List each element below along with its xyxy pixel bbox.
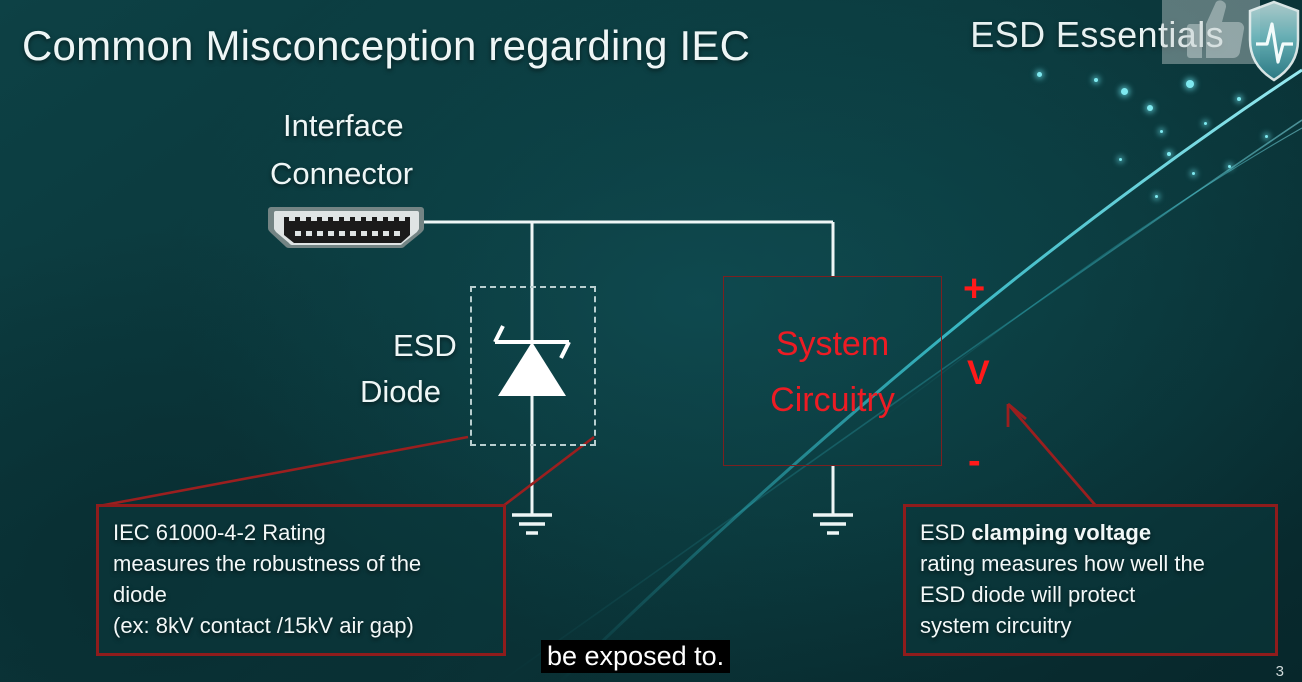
callout-left-line1: IEC 61000-4-2 Rating [113, 517, 489, 548]
system-circuitry-box [723, 276, 942, 466]
callout-right-line1: ESD clamping voltage [920, 517, 1261, 548]
callout-right-line3: ESD diode will protect [920, 579, 1261, 610]
system-circuitry-label-line1: System [723, 325, 942, 364]
slide-canvas: Common Misconception regarding IEC ESD E… [0, 0, 1302, 682]
callout-right-line1-bold: clamping voltage [971, 520, 1151, 545]
callout-left: IEC 61000-4-2 Rating measures the robust… [96, 504, 506, 656]
hdmi-connector-icon [268, 203, 426, 251]
esd-diode-label-line2: Diode [360, 374, 441, 410]
callout-right: ESD clamping voltage rating measures how… [903, 504, 1278, 656]
callout-right-line1-normal: ESD [920, 520, 971, 545]
callout-left-line2: measures the robustness of the [113, 548, 489, 579]
callout-left-line3: diode [113, 579, 489, 610]
esd-diode-label-line1: ESD [393, 328, 457, 364]
ground-symbol-icon [813, 515, 853, 533]
video-caption: be exposed to. [541, 640, 730, 673]
system-circuitry-label-line2: Circuitry [723, 381, 942, 420]
callout-right-line4: system circuitry [920, 610, 1261, 641]
polarity-plus-label: + [963, 268, 985, 311]
callout-left-line4: (ex: 8kV contact /15kV air gap) [113, 610, 489, 641]
voltage-v-label: V [967, 354, 990, 393]
esd-diode-dashed-region [470, 286, 596, 446]
interface-connector-label-line1: Interface [283, 108, 404, 144]
ground-symbol-icon [512, 515, 552, 533]
page-number: 3 [1276, 663, 1284, 680]
callout-right-line2: rating measures how well the [920, 548, 1261, 579]
interface-connector-label-line2: Connector [270, 156, 413, 192]
polarity-minus-label: - [968, 440, 981, 483]
